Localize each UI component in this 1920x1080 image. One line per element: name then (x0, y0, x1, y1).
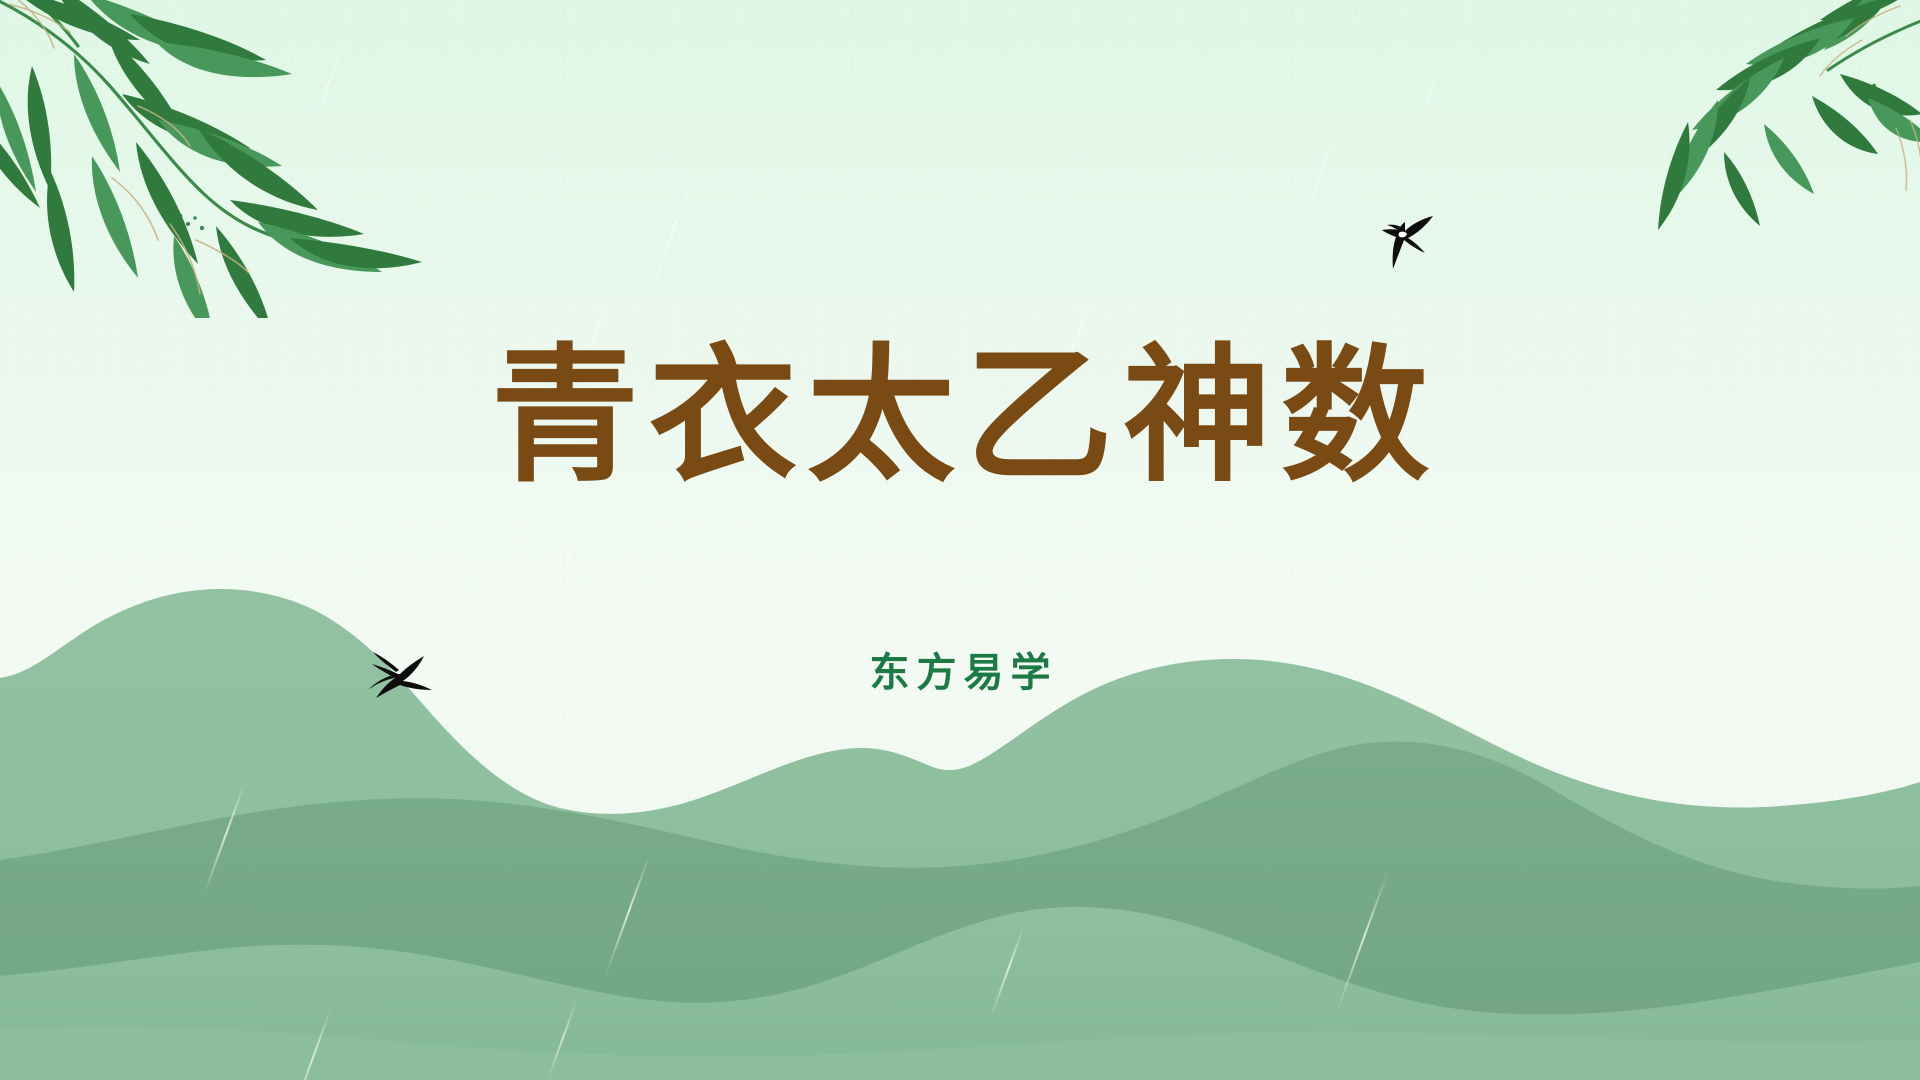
swallow-bird-icon (1375, 215, 1437, 271)
slide-canvas: 青衣太乙神数 东方易学 (0, 0, 1920, 1080)
rain-streak (1335, 874, 1388, 1016)
bamboo-branch-icon (0, 0, 430, 318)
rain-streak (990, 926, 1025, 1019)
page-subtitle: 东方易学 (0, 640, 1920, 698)
rain-streak (290, 1008, 332, 1080)
rain-streak (1414, 56, 1445, 137)
rain-streak (203, 782, 246, 895)
rain-streak (546, 1002, 577, 1080)
rain-streak (1300, 126, 1339, 228)
rain-streak (650, 182, 692, 294)
bamboo-branch-icon (1604, 0, 1920, 232)
page-title: 青衣太乙神数 (0, 336, 1920, 496)
rain-streak (604, 856, 650, 977)
rain-streak (549, 520, 584, 611)
